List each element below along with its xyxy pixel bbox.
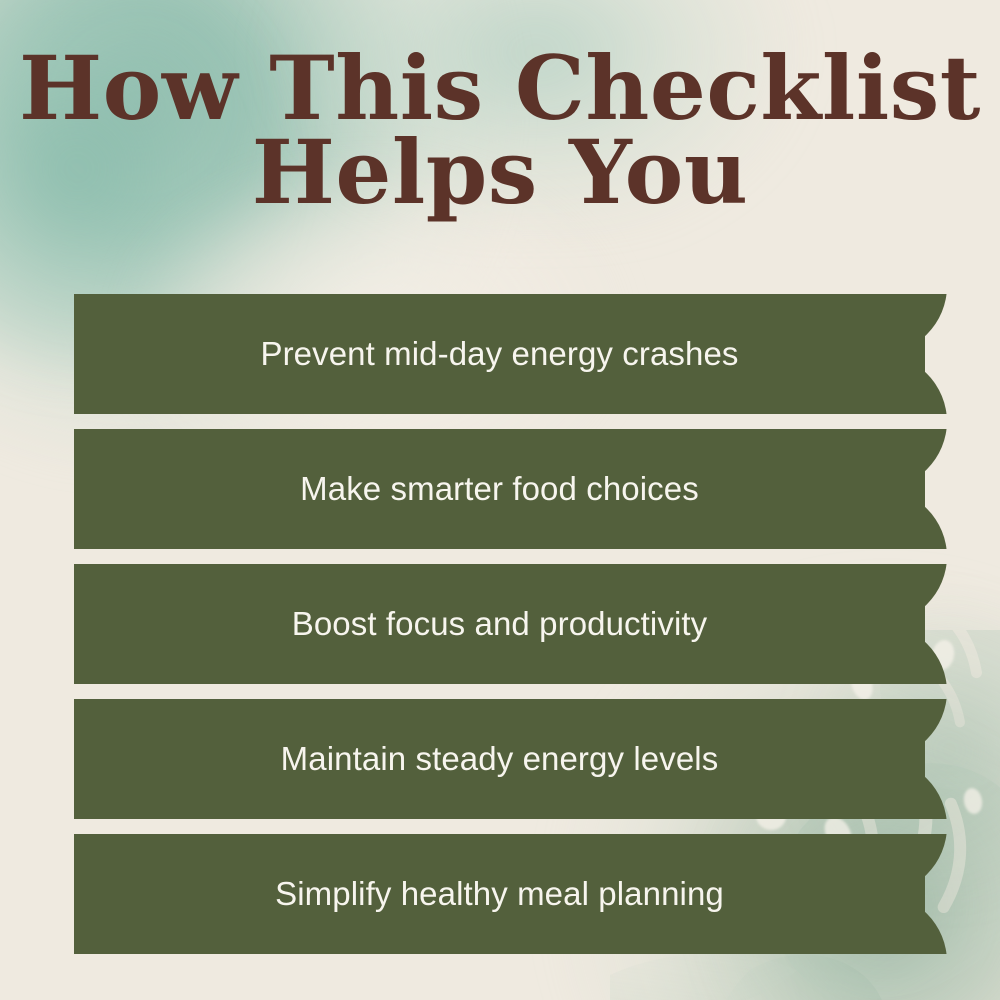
page-title: How This Checklist Helps You	[0, 46, 1000, 215]
ribbon-tail-icon	[925, 429, 947, 549]
checklist-bar-group: Prevent mid-day energy crashes Make smar…	[74, 294, 954, 954]
checklist-item-label: Make smarter food choices	[74, 429, 925, 549]
checklist-item[interactable]: Maintain steady energy levels	[74, 699, 945, 819]
ribbon-tail-icon	[925, 699, 947, 819]
checklist-item-label: Maintain steady energy levels	[74, 699, 925, 819]
page-title-line-1: How This Checklist	[0, 46, 1000, 130]
checklist-item-label: Boost focus and productivity	[74, 564, 925, 684]
ribbon-tail-icon	[925, 834, 947, 954]
checklist-item[interactable]: Make smarter food choices	[74, 429, 945, 549]
leaf-speck	[962, 787, 984, 816]
ribbon-tail-icon	[925, 294, 947, 414]
checklist-item[interactable]: Prevent mid-day energy crashes	[74, 294, 945, 414]
poster-canvas: How This Checklist Helps You Prevent mid…	[0, 0, 1000, 1000]
checklist-item-label: Simplify healthy meal planning	[74, 834, 925, 954]
checklist-item[interactable]: Simplify healthy meal planning	[74, 834, 945, 954]
page-title-line-2: Helps You	[0, 130, 1000, 214]
checklist-item-label: Prevent mid-day energy crashes	[74, 294, 925, 414]
ribbon-tail-icon	[925, 564, 947, 684]
checklist-item[interactable]: Boost focus and productivity	[74, 564, 945, 684]
